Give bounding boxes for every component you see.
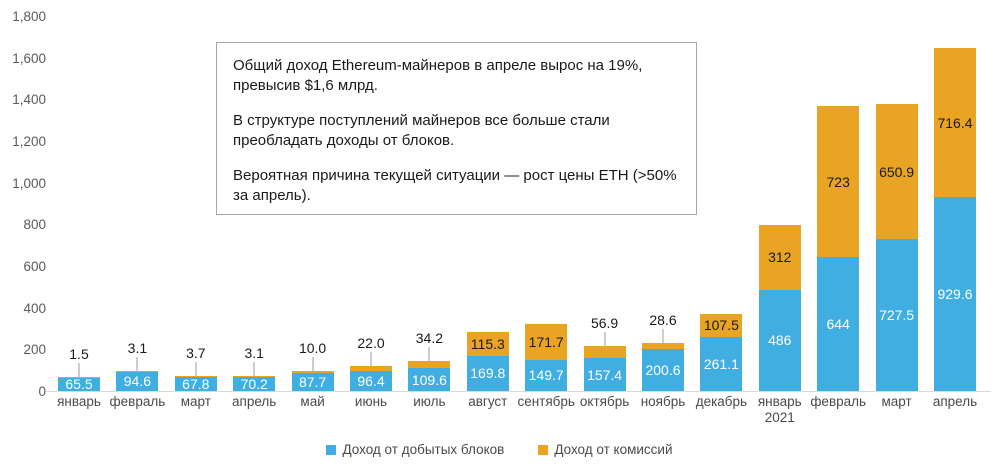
y-axis-tick-label: 1,600 bbox=[0, 52, 46, 66]
bar-value-callout: 3.1 bbox=[128, 341, 147, 355]
legend-color-swatch bbox=[326, 445, 336, 455]
bar-segment-blocks[interactable]: 94.6 bbox=[116, 371, 158, 391]
chart-legend: Доход от добытых блоковДоход от комиссий bbox=[0, 443, 999, 457]
y-axis-tick-label: 400 bbox=[0, 302, 46, 316]
x-axis-tick-label-text: октябрь bbox=[580, 394, 629, 409]
bar-value-callout: 56.9 bbox=[591, 316, 618, 330]
bar-segment-fees[interactable] bbox=[175, 376, 217, 377]
bar-value-label: 3.1 bbox=[128, 340, 147, 356]
bar-value-label: 929.6 bbox=[937, 287, 972, 301]
x-axis-labels: январьфевральмартапрельмайиюньиюльавгуст… bbox=[46, 394, 999, 434]
bar-value-label: 56.9 bbox=[591, 315, 618, 331]
bar-value-label: 723 bbox=[827, 175, 850, 189]
bar-segment-blocks[interactable]: 65.5 bbox=[58, 377, 100, 391]
bar-value-callout: 3.1 bbox=[244, 346, 263, 360]
bar-segment-blocks[interactable]: 169.8 bbox=[467, 356, 509, 391]
bar-value-label: 1.5 bbox=[69, 346, 88, 362]
bar-segment-blocks[interactable]: 727.5 bbox=[876, 239, 918, 391]
bar-segment-blocks[interactable]: 87.7 bbox=[292, 373, 334, 391]
bar-value-label: 96.4 bbox=[357, 374, 384, 388]
bar-value-label: 3.1 bbox=[244, 345, 263, 361]
annotation-paragraph: Вероятная причина текущей ситуации — рос… bbox=[233, 166, 680, 206]
bar-value-label: 115.3 bbox=[471, 337, 505, 351]
bar-segment-blocks[interactable]: 261.1 bbox=[700, 337, 742, 391]
label-leader-line bbox=[429, 347, 430, 361]
annotation-textbox: Общий доход Ethereum-майнеров в апреле в… bbox=[216, 42, 697, 215]
label-leader-line bbox=[254, 362, 255, 376]
y-axis-tick-label: 1,000 bbox=[0, 177, 46, 191]
bar-segment-fees[interactable]: 716.4 bbox=[934, 48, 976, 197]
annotation-paragraph: Общий доход Ethereum-майнеров в апреле в… bbox=[233, 56, 680, 96]
bar-segment-fees[interactable]: 650.9 bbox=[876, 104, 918, 240]
bar-segment-fees[interactable]: 312 bbox=[759, 225, 801, 290]
bar-segment-blocks[interactable]: 486 bbox=[759, 290, 801, 391]
stacked-bar-chart: 02004006008001,0001,2001,4001,6001,800 6… bbox=[0, 0, 999, 469]
bar-value-callout: 3.7 bbox=[186, 346, 205, 360]
x-axis-tick-label-text: март bbox=[882, 394, 912, 409]
bar-value-label: 157.4 bbox=[587, 368, 622, 382]
bar-value-label: 644 bbox=[827, 317, 850, 331]
x-axis-tick-label: апрель bbox=[916, 394, 994, 410]
bar-value-label: 10.0 bbox=[299, 340, 326, 356]
bar-segment-blocks[interactable]: 67.8 bbox=[175, 377, 217, 391]
bar-segment-fees[interactable]: 115.3 bbox=[467, 332, 509, 356]
y-axis-tick-label: 200 bbox=[0, 343, 46, 357]
bar-value-callout: 28.6 bbox=[649, 313, 676, 327]
bar-value-callout: 34.2 bbox=[416, 331, 443, 345]
bar-value-label: 486 bbox=[768, 333, 791, 347]
bar-segment-blocks[interactable]: 200.6 bbox=[642, 349, 684, 391]
bar-value-label: 67.8 bbox=[182, 377, 209, 391]
bar-segment-blocks[interactable]: 644 bbox=[817, 257, 859, 391]
bar-value-label: 200.6 bbox=[645, 363, 680, 377]
bar-value-label: 169.8 bbox=[470, 366, 505, 380]
legend-label: Доход от добытых блоков bbox=[342, 443, 504, 457]
bar-segment-fees[interactable]: 723 bbox=[817, 106, 859, 257]
bar-value-label: 716.4 bbox=[937, 116, 972, 130]
y-axis: 02004006008001,0001,2001,4001,6001,800 bbox=[0, 0, 46, 400]
bar-value-callout: 1.5 bbox=[69, 347, 88, 361]
bar-value-label: 94.6 bbox=[124, 374, 151, 388]
y-axis-tick-label: 800 bbox=[0, 218, 46, 232]
x-axis-tick-label-text: июнь bbox=[355, 394, 387, 409]
bar-value-label: 149.7 bbox=[529, 368, 564, 382]
bar-value-label: 87.7 bbox=[299, 375, 326, 389]
x-axis-tick-sublabel: 2021 bbox=[741, 410, 819, 426]
legend-item[interactable]: Доход от комиссий bbox=[538, 443, 672, 457]
bar-value-callout: 10.0 bbox=[299, 341, 326, 355]
label-leader-line bbox=[137, 357, 138, 371]
y-axis-tick-label: 600 bbox=[0, 260, 46, 274]
bar-segment-fees[interactable]: 171.7 bbox=[525, 324, 567, 360]
bar-value-label: 109.6 bbox=[412, 373, 447, 387]
bar-value-label: 312 bbox=[768, 250, 791, 264]
bar-segment-fees[interactable]: 107.5 bbox=[700, 314, 742, 336]
legend-color-swatch bbox=[538, 445, 548, 455]
bar-segment-fees[interactable] bbox=[584, 346, 626, 358]
bar-value-label: 727.5 bbox=[879, 308, 914, 322]
x-axis-tick-label-text: август bbox=[468, 394, 507, 409]
x-axis-tick-label-text: ноябрь bbox=[641, 394, 686, 409]
bar-segment-fees[interactable] bbox=[292, 371, 334, 373]
bar-segment-blocks[interactable]: 96.4 bbox=[350, 371, 392, 391]
label-leader-line bbox=[663, 329, 664, 343]
label-leader-line bbox=[604, 332, 605, 346]
x-axis-tick-label-text: январь bbox=[57, 394, 101, 409]
x-axis-tick-label-text: январь bbox=[758, 394, 802, 409]
legend-item[interactable]: Доход от добытых блоков bbox=[326, 443, 504, 457]
bar-segment-fees[interactable] bbox=[350, 366, 392, 371]
bar-segment-fees[interactable] bbox=[642, 343, 684, 349]
label-leader-line bbox=[79, 363, 80, 377]
x-axis-baseline bbox=[46, 391, 991, 392]
annotation-paragraph: В структуре поступлений майнеров все бол… bbox=[233, 111, 680, 151]
x-axis-tick-label-text: апрель bbox=[232, 394, 276, 409]
x-axis-tick-label-text: декабрь bbox=[696, 394, 747, 409]
x-axis-tick-label-text: июль bbox=[413, 394, 445, 409]
y-axis-tick-label: 1,200 bbox=[0, 135, 46, 149]
bar-value-label: 3.7 bbox=[186, 345, 205, 361]
x-axis-tick-label-text: май bbox=[300, 394, 324, 409]
bar-value-label: 22.0 bbox=[357, 335, 384, 351]
bar-value-callout: 22.0 bbox=[357, 336, 384, 350]
bar-value-label: 28.6 bbox=[649, 312, 676, 328]
bar-segment-blocks[interactable]: 929.6 bbox=[934, 197, 976, 391]
bar-value-label: 650.9 bbox=[879, 165, 914, 179]
bar-segment-fees[interactable] bbox=[408, 361, 450, 368]
label-leader-line bbox=[371, 352, 372, 366]
bar-segment-blocks[interactable]: 149.7 bbox=[525, 360, 567, 391]
legend-label: Доход от комиссий bbox=[554, 443, 672, 457]
y-axis-tick-label: 1,800 bbox=[0, 10, 46, 24]
y-axis-tick-label: 1,400 bbox=[0, 93, 46, 107]
bar-segment-blocks[interactable]: 70.2 bbox=[233, 376, 275, 391]
bar-value-label: 261.1 bbox=[704, 357, 739, 371]
label-leader-line bbox=[195, 362, 196, 376]
label-leader-line bbox=[312, 357, 313, 371]
bar-segment-blocks[interactable]: 109.6 bbox=[408, 368, 450, 391]
bar-value-label: 70.2 bbox=[241, 377, 268, 391]
x-axis-tick-label-text: апрель bbox=[933, 394, 977, 409]
bar-value-label: 107.5 bbox=[704, 318, 739, 332]
bar-segment-fees[interactable] bbox=[233, 376, 275, 377]
x-axis-tick-label-text: март bbox=[181, 394, 211, 409]
bar-value-label: 34.2 bbox=[416, 330, 443, 346]
bar-segment-blocks[interactable]: 157.4 bbox=[584, 358, 626, 391]
bar-value-label: 65.5 bbox=[65, 377, 92, 391]
bar-value-label: 171.7 bbox=[529, 335, 564, 349]
bar-segment-fees[interactable] bbox=[116, 371, 158, 372]
